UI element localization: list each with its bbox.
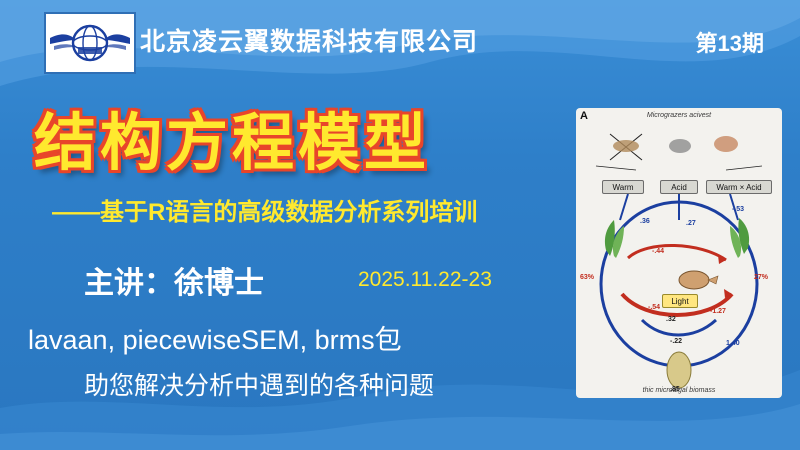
page-subtitle: ——基于R语言的高级数据分析系列培训 (52, 192, 477, 227)
eagle-globe-logo-icon (48, 16, 132, 70)
coefficient-label: .32 (666, 316, 676, 323)
coefficient-label: -.22 (670, 338, 682, 345)
mediator-box-light: Light (662, 294, 698, 308)
tagline-label: 助您解决分析中遇到的各种问题 (84, 366, 434, 402)
company-name: 北京凌云翼数据科技有限公司 (140, 22, 478, 58)
treatment-box-acid: Acid (660, 180, 698, 194)
poster-canvas: 北京凌云翼数据科技有限公司 第13期 结构方程模型 ——基于R语言的高级数据分析… (0, 0, 800, 450)
coefficient-label: -.53 (732, 206, 744, 213)
speaker-label: 主讲：徐博士 (84, 258, 264, 302)
variance-label: 63% (580, 274, 594, 281)
treatment-box-warm-acid: Warm × Acid (706, 180, 772, 194)
coefficient-label: -.54 (648, 304, 660, 311)
figure-top-caption: Micrograzers acivest (576, 112, 782, 119)
company-logo (44, 12, 136, 74)
date-label: 2025.11.22-23 (358, 268, 492, 292)
coefficient-label: 1.40 (726, 340, 740, 347)
coefficient-label: .85 (670, 386, 680, 393)
page-title: 结构方程模型 (34, 92, 430, 182)
coefficient-label: -1.27 (710, 308, 726, 315)
sem-diagram-figure: A Micrograzers acivest thic microalgal b… (576, 108, 782, 398)
variance-label: 27% (754, 274, 768, 281)
coefficient-label: .27 (686, 220, 696, 227)
treatment-box-warm: Warm (602, 180, 644, 194)
coefficient-label: .36 (640, 218, 650, 225)
coefficient-label: -.44 (652, 248, 664, 255)
sem-path-svg (576, 108, 782, 398)
packages-label: lavaan, piecewiseSEM, brms包 (28, 318, 402, 357)
issue-badge: 第13期 (696, 26, 764, 58)
